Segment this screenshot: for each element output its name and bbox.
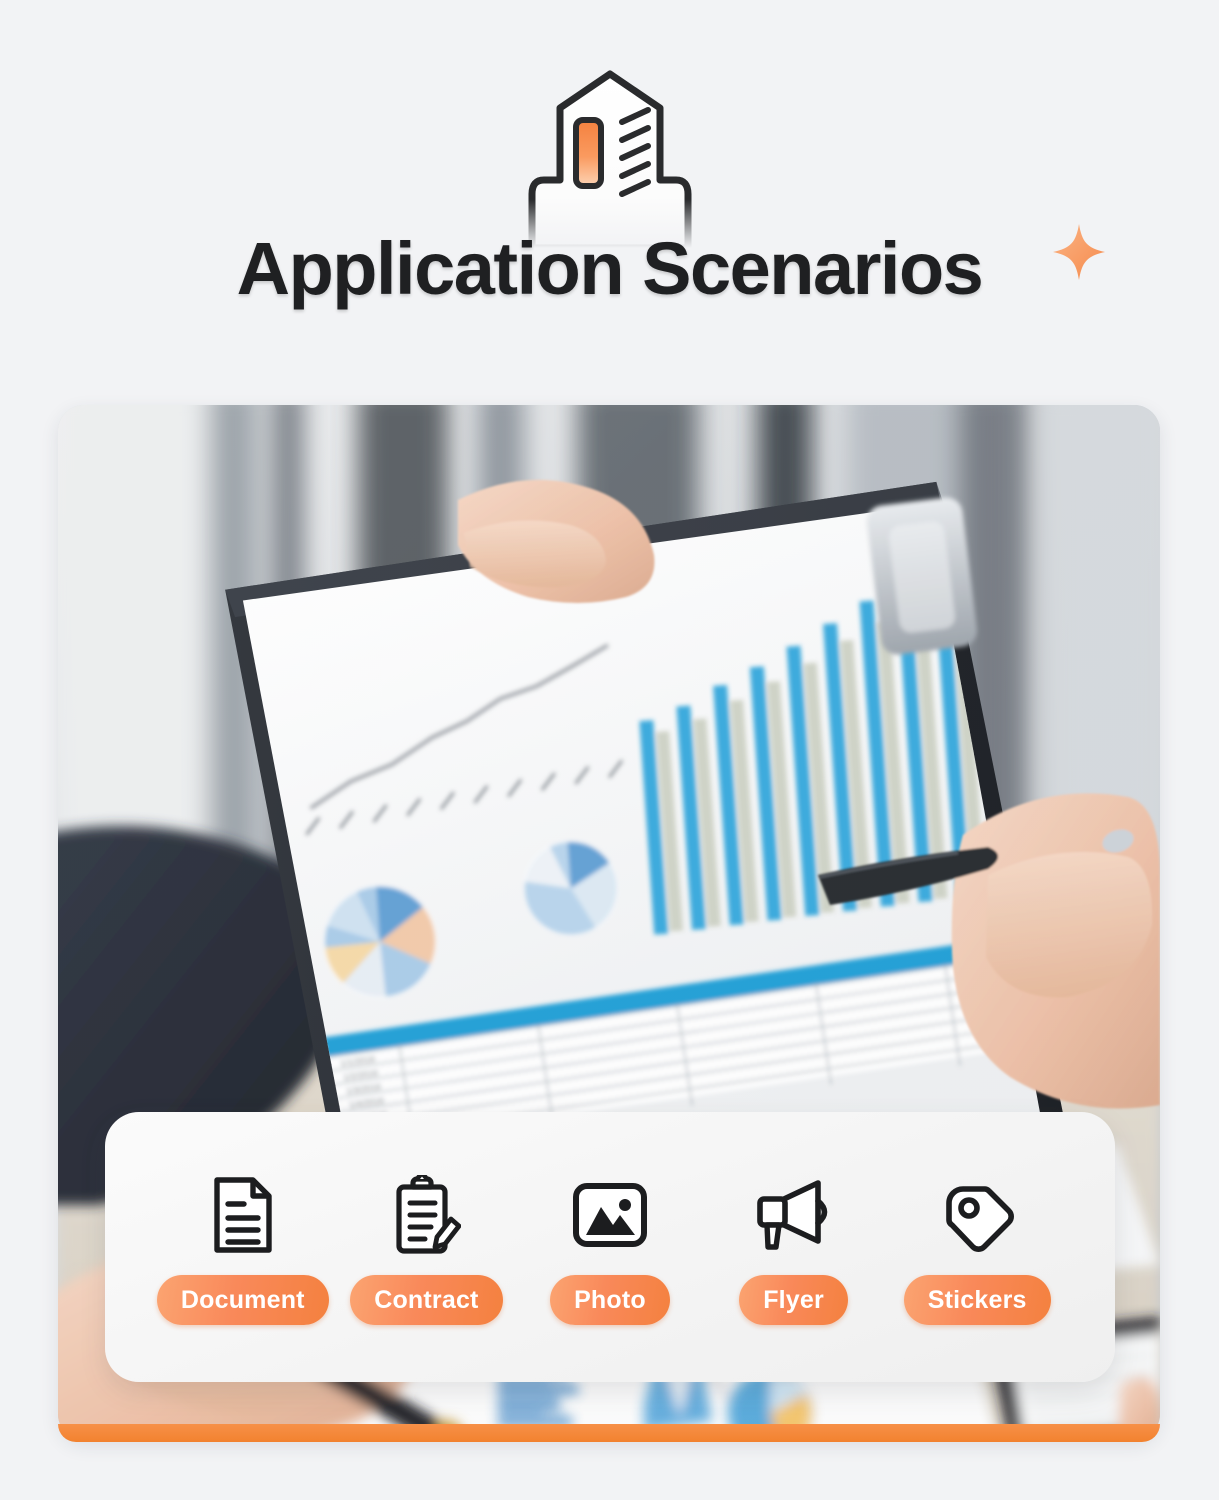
feature-item-stickers[interactable]: Stickers	[885, 1169, 1069, 1325]
tag-icon	[939, 1169, 1015, 1261]
sparkle-icon	[1051, 222, 1107, 282]
feature-item-document[interactable]: Document	[151, 1169, 335, 1325]
pill-stickers[interactable]: Stickers	[904, 1275, 1051, 1325]
megaphone-icon	[752, 1169, 836, 1261]
building-icon	[500, 62, 720, 252]
document-icon	[211, 1169, 275, 1261]
feature-item-flyer[interactable]: Flyer	[702, 1169, 886, 1325]
page-title-text: Application Scenarios	[237, 232, 983, 306]
page-title: Application Scenarios	[0, 232, 1219, 306]
feature-panel: Document Contract	[105, 1112, 1115, 1382]
pill-contract[interactable]: Contract	[350, 1275, 502, 1325]
application-scenarios-page: Application Scenarios	[0, 0, 1219, 1500]
feature-item-photo[interactable]: Photo	[518, 1169, 702, 1325]
pill-document[interactable]: Document	[157, 1275, 329, 1325]
header-section: Application Scenarios	[0, 0, 1219, 380]
feature-item-contract[interactable]: Contract	[335, 1169, 519, 1325]
photo-icon	[571, 1169, 649, 1261]
pill-photo[interactable]: Photo	[550, 1275, 670, 1325]
pill-flyer[interactable]: Flyer	[739, 1275, 848, 1325]
orange-accent-bar	[58, 1424, 1160, 1442]
contract-icon	[391, 1169, 461, 1261]
